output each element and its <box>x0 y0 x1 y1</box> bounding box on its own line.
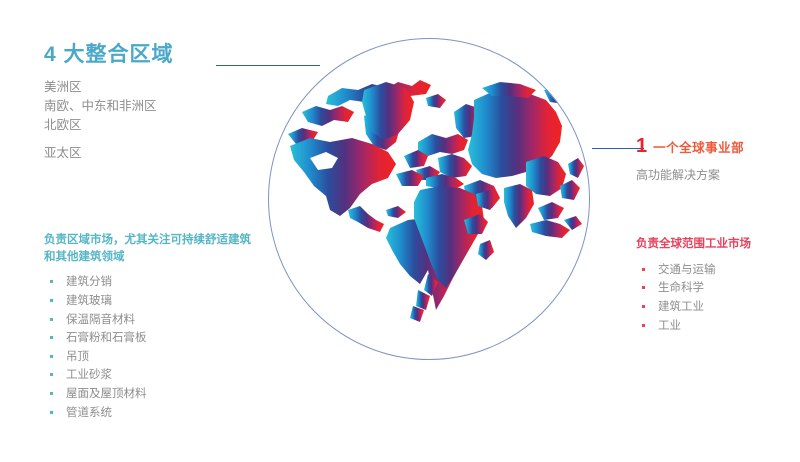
slide-canvas: 4 大整合区域 美洲区 南欧、中东和非洲区 北欧区 亚太区 负责区域市场，尤其关… <box>0 0 800 462</box>
left-top-block: 4 大整合区域 美洲区 南欧、中东和非洲区 北欧区 亚太区 <box>44 42 244 162</box>
list-item: 建筑工业 <box>636 298 796 317</box>
region-item-northern-europe: 北欧区 <box>44 116 244 135</box>
list-item: 石膏粉和石膏板 <box>44 329 259 348</box>
global-division-number: 1 <box>636 136 647 156</box>
regional-product-list: 建筑分销 建筑玻璃 保温隔音材料 石膏粉和石膏板 吊顶 工业砂浆 屋面及屋顶材料… <box>44 273 259 422</box>
region-item-apac: 亚太区 <box>44 144 244 163</box>
region-item-americas: 美洲区 <box>44 78 244 97</box>
left-bottom-block: 负责区域市场，尤其关注可持续舒适建筑和其他建筑领域 建筑分销 建筑玻璃 保温隔音… <box>44 232 259 422</box>
world-globe <box>268 38 590 360</box>
global-division-title: 一个全球事业部 <box>653 137 744 156</box>
global-division-subtitle: 高功能解决方案 <box>636 166 796 183</box>
list-item: 建筑玻璃 <box>44 292 259 311</box>
right-top-block: 1 一个全球事业部 高功能解决方案 <box>636 136 796 183</box>
page-title: 4 大整合区域 <box>44 42 244 68</box>
list-item: 工业 <box>636 317 796 336</box>
list-item: 屋面及屋顶材料 <box>44 385 259 404</box>
regional-markets-heading: 负责区域市场，尤其关注可持续舒适建筑和其他建筑领域 <box>44 232 259 265</box>
list-item: 吊顶 <box>44 348 259 367</box>
region-item-semea: 南欧、中东和非洲区 <box>44 97 244 116</box>
list-item: 交通与运输 <box>636 261 796 280</box>
global-markets-heading: 负责全球范围工业市场 <box>636 236 796 253</box>
region-list: 美洲区 南欧、中东和非洲区 北欧区 亚太区 <box>44 78 244 162</box>
global-market-list: 交通与运输 生命科学 建筑工业 工业 <box>636 261 796 336</box>
list-item: 保温隔音材料 <box>44 311 259 330</box>
list-item: 生命科学 <box>636 279 796 298</box>
list-item: 工业砂浆 <box>44 366 259 385</box>
globe-outline-ring <box>268 38 590 360</box>
global-division-title-row: 1 一个全球事业部 <box>636 136 796 156</box>
list-item: 管道系统 <box>44 404 259 423</box>
list-item: 建筑分销 <box>44 273 259 292</box>
right-bottom-block: 负责全球范围工业市场 交通与运输 生命科学 建筑工业 工业 <box>636 236 796 335</box>
